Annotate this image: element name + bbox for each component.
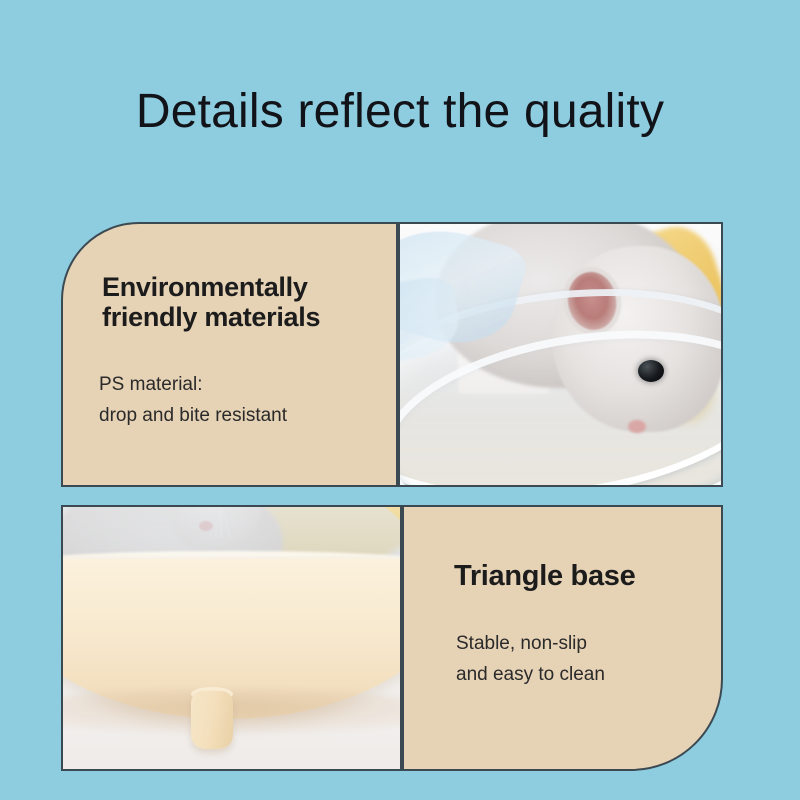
feature-row-bottom: Triangle base Stable, non-slip and easy …	[61, 505, 723, 771]
feature-subtext-line-2: and easy to clean	[456, 664, 605, 685]
feature-headline-environmentally-friendly-materials: Environmentally friendly materials	[102, 272, 398, 332]
feature-headline-triangle-base: Triangle base	[454, 560, 635, 592]
feature-headline-line-2: friendly materials	[102, 302, 320, 332]
feature-headline-line-1: Environmentally	[102, 272, 308, 302]
bowl-base-with-foot-photo	[61, 505, 402, 771]
feature-subtext-line-1: PS material:	[99, 374, 202, 395]
photo-canvas-bowl-base	[63, 507, 400, 769]
hamster-in-clear-wheel-photo	[398, 222, 723, 487]
feature-subtext-line-2: drop and bite resistant	[99, 405, 287, 426]
feature-grid: Environmentally friendly materials PS ma…	[61, 222, 723, 771]
photo-canvas-hamster-wheel	[400, 224, 721, 485]
feature-subtext-environmentally-friendly-materials: PS material: drop and bite resistant	[99, 370, 389, 432]
feature-subtext-line-1: Stable, non-slip	[456, 633, 587, 654]
page-title: Details reflect the quality	[0, 84, 800, 139]
triangle-foot	[191, 691, 233, 749]
feature-card-environmentally-friendly-materials: Environmentally friendly materials PS ma…	[61, 222, 398, 487]
feature-row-top: Environmentally friendly materials PS ma…	[61, 222, 723, 487]
feature-subtext-triangle-base: Stable, non-slip and easy to clean	[456, 629, 605, 691]
feature-card-triangle-base: Triangle base Stable, non-slip and easy …	[402, 505, 723, 771]
